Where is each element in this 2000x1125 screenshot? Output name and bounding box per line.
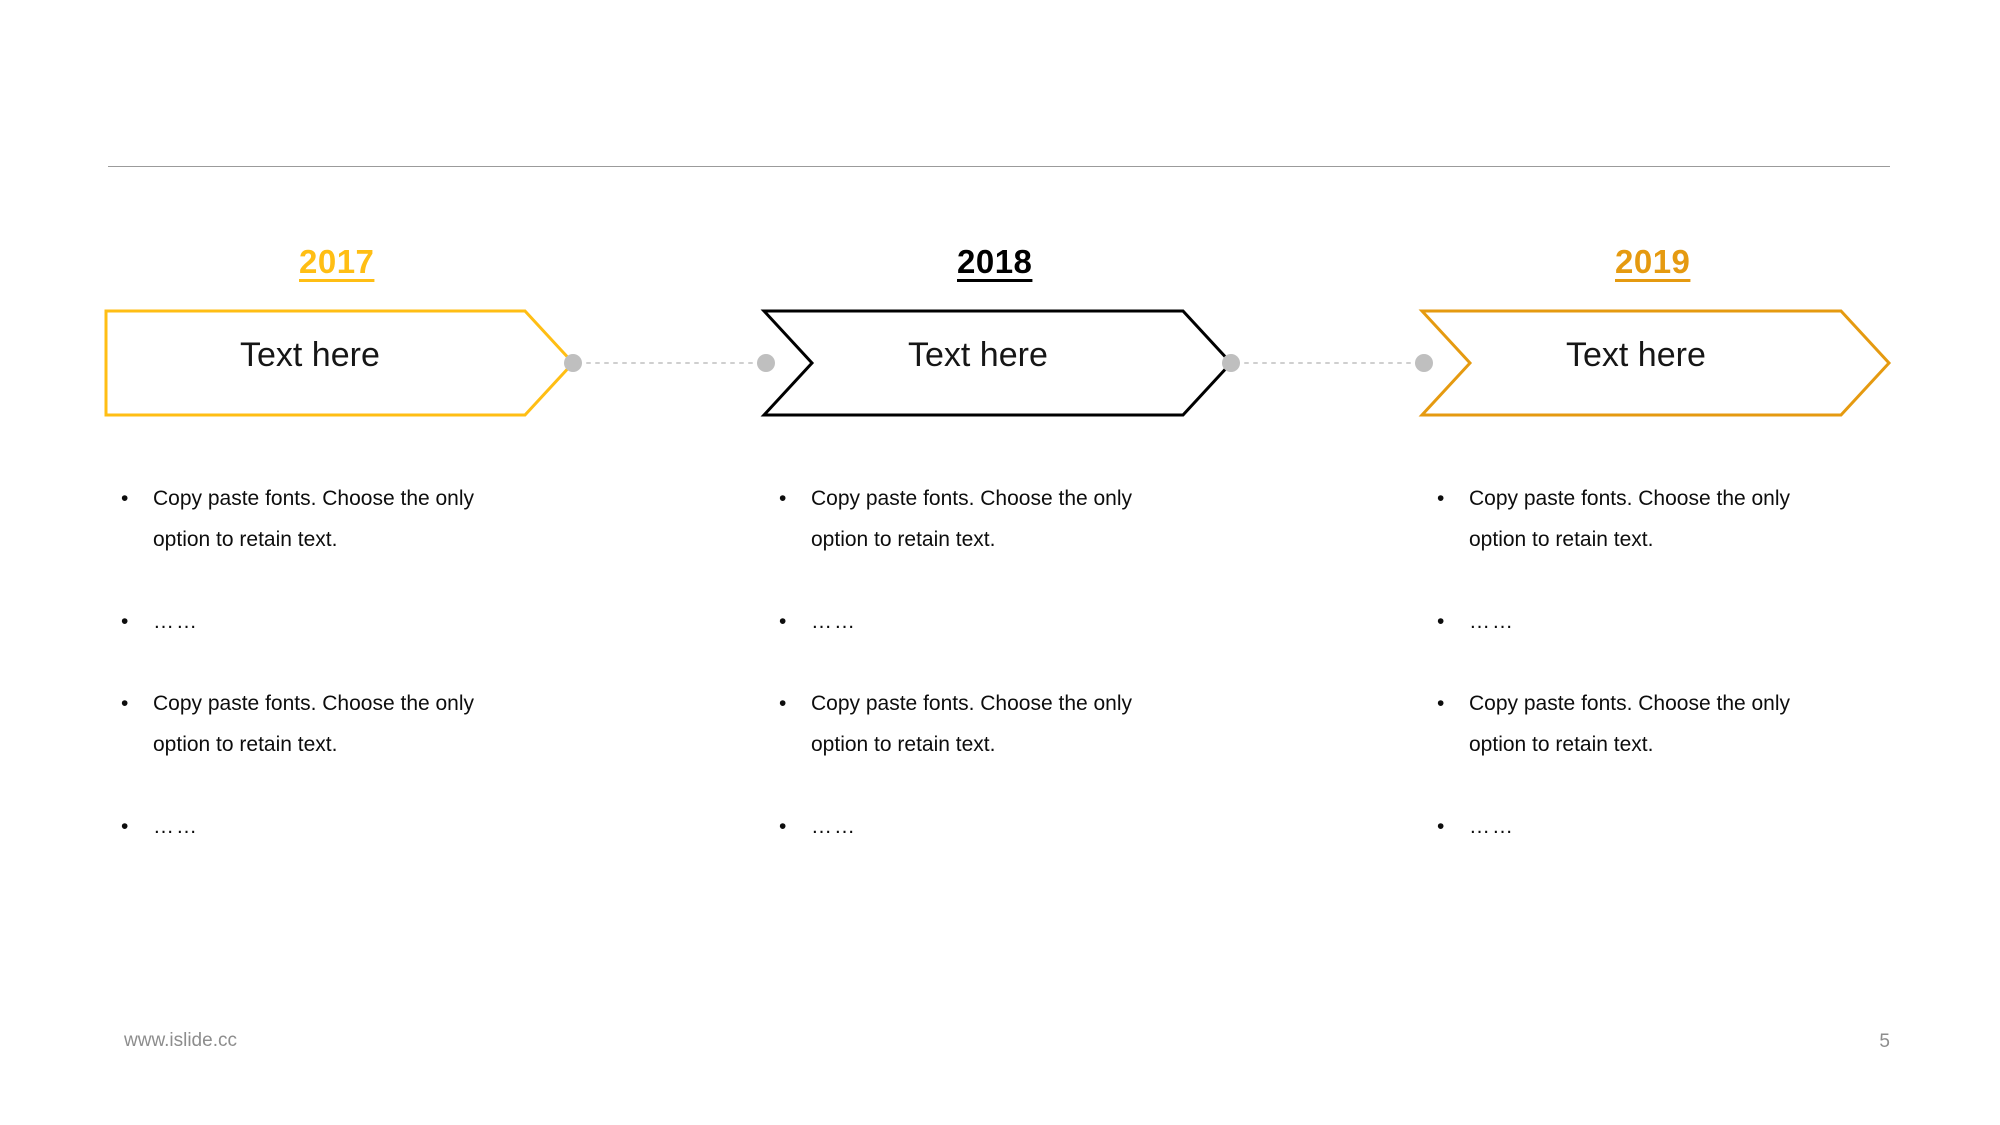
list-item: • ……: [118, 601, 518, 642]
bullet-icon: •: [1437, 601, 1444, 642]
list-item: • ……: [1434, 601, 1834, 642]
connector-dot-3: [1222, 354, 1240, 372]
shape-caption-2017: Text here: [240, 336, 380, 375]
bullet-column-2018: • Copy paste fonts. Choose the only opti…: [776, 478, 1176, 847]
header-divider-rule: [108, 166, 1890, 167]
bullet-icon: •: [1437, 806, 1444, 847]
bullet-text: ……: [811, 806, 1166, 847]
list-item: • ……: [118, 806, 518, 847]
list-item: • Copy paste fonts. Choose the only opti…: [776, 478, 1176, 560]
bullet-icon: •: [779, 601, 786, 642]
connector-dot-2: [757, 354, 775, 372]
bullet-column-2019: • Copy paste fonts. Choose the only opti…: [1434, 478, 1834, 847]
bullet-icon: •: [121, 683, 128, 724]
connector-dot-1: [564, 354, 582, 372]
shape-caption-2019: Text here: [1566, 336, 1706, 375]
list-item: • ……: [1434, 806, 1834, 847]
bullet-icon: •: [1437, 478, 1444, 519]
bullet-icon: •: [1437, 683, 1444, 724]
bullet-text: ……: [153, 806, 508, 847]
bullet-text: Copy paste fonts. Choose the only option…: [811, 683, 1166, 765]
bullet-icon: •: [121, 478, 128, 519]
bullet-icon: •: [121, 806, 128, 847]
connector-dot-4: [1415, 354, 1433, 372]
bullet-text: Copy paste fonts. Choose the only option…: [153, 683, 508, 765]
year-label-2017: 2017: [299, 243, 374, 281]
bullet-icon: •: [779, 683, 786, 724]
bullet-icon: •: [779, 478, 786, 519]
bullet-text: Copy paste fonts. Choose the only option…: [153, 478, 508, 560]
list-item: • Copy paste fonts. Choose the only opti…: [118, 478, 518, 560]
bullet-text: Copy paste fonts. Choose the only option…: [1469, 683, 1824, 765]
list-item: • Copy paste fonts. Choose the only opti…: [776, 683, 1176, 765]
bullet-text: ……: [1469, 601, 1824, 642]
bullet-text: ……: [153, 601, 508, 642]
shape-caption-2018: Text here: [908, 336, 1048, 375]
year-label-2018: 2018: [957, 243, 1032, 281]
list-item: • Copy paste fonts. Choose the only opti…: [118, 683, 518, 765]
list-item: • ……: [776, 806, 1176, 847]
bullet-text: Copy paste fonts. Choose the only option…: [1469, 478, 1824, 560]
bullet-column-2017: • Copy paste fonts. Choose the only opti…: [118, 478, 518, 847]
list-item: • ……: [776, 601, 1176, 642]
bullet-text: Copy paste fonts. Choose the only option…: [811, 478, 1166, 560]
bullet-icon: •: [121, 601, 128, 642]
list-item: • Copy paste fonts. Choose the only opti…: [1434, 478, 1834, 560]
bullet-text: ……: [1469, 806, 1824, 847]
year-label-2019: 2019: [1615, 243, 1690, 281]
slide-canvas: 2017 2018 2019 Text here Text here Text …: [0, 0, 2000, 1125]
list-item: • Copy paste fonts. Choose the only opti…: [1434, 683, 1834, 765]
page-number: 5: [1860, 1031, 1890, 1053]
bullet-text: ……: [811, 601, 1166, 642]
bullet-icon: •: [779, 806, 786, 847]
footer-url[interactable]: www.islide.cc: [124, 1030, 237, 1052]
